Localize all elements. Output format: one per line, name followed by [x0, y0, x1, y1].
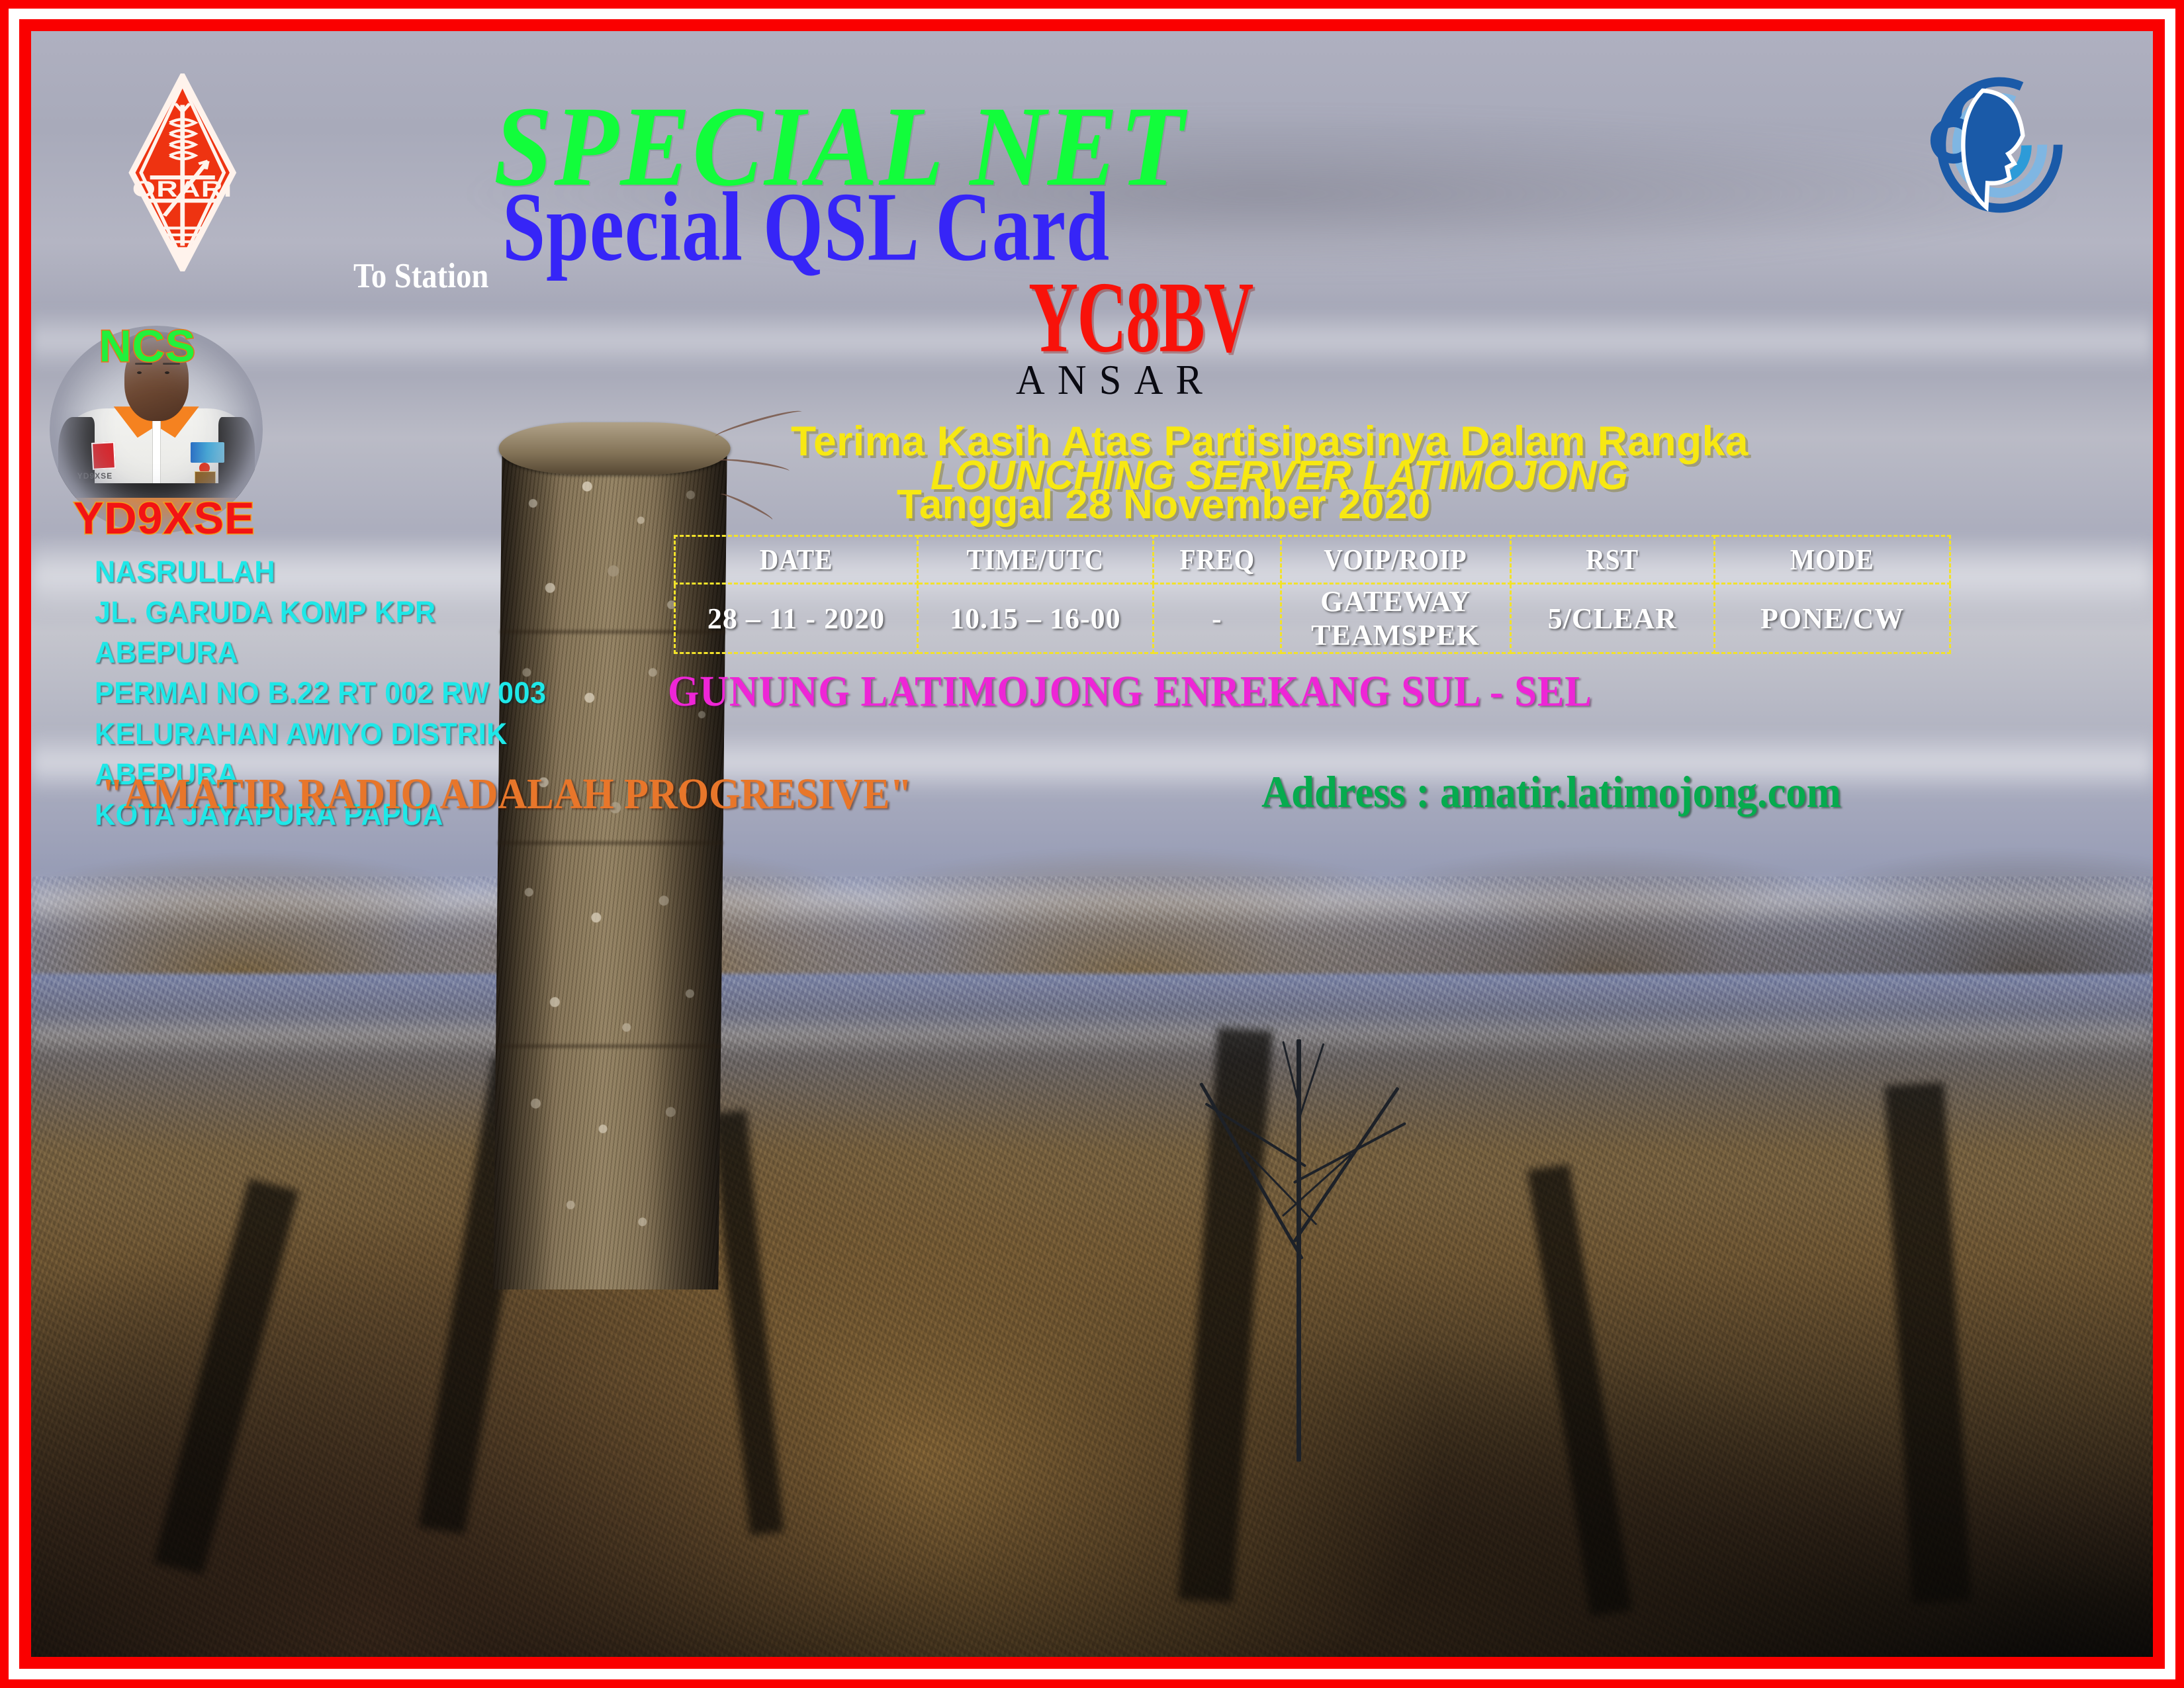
- cell-voip-line1: GATEWAY: [1282, 585, 1510, 618]
- cell-date: 28 – 11 - 2020: [675, 584, 917, 653]
- dead-tree-silhouette: [1208, 1039, 1400, 1462]
- address-line: ABEPURA: [95, 632, 546, 673]
- footer-slogan: "AMATIR RADIO ADALAH PROGRESIVE": [101, 773, 912, 816]
- orari-logo: ORARI: [128, 73, 237, 272]
- ncs-operator-photo: YD9XSE: [78, 363, 235, 496]
- table-row: 28 – 11 - 2020 10.15 – 16-00 - GATEWAY T…: [675, 584, 1950, 653]
- cell-freq: -: [1154, 584, 1281, 653]
- cell-rst: 5/CLEAR: [1510, 584, 1714, 653]
- col-header-rst: RST: [1520, 536, 1704, 584]
- to-station-label: To Station: [353, 259, 488, 294]
- footer-web-address: Address : amatir.latimojong.com: [1261, 769, 1841, 814]
- address-line: JL. GARUDA KOMP KPR: [95, 592, 546, 632]
- voip-operator-logo: [1928, 75, 2076, 214]
- col-header-freq: FREQ: [1160, 536, 1274, 584]
- station-callsign: YC8BV: [1028, 267, 1253, 368]
- operator-name: ANSAR: [1016, 359, 1215, 401]
- cell-time: 10.15 – 16-00: [917, 584, 1153, 653]
- cell-mode: PONE/CW: [1714, 584, 1950, 653]
- cell-voip: GATEWAY TEAMSPEK: [1281, 584, 1510, 653]
- col-header-mode: MODE: [1726, 536, 1938, 584]
- qsl-card-outer-border: ORARI: [0, 0, 2184, 1688]
- qsl-card-white-gap: ORARI: [9, 9, 2175, 1679]
- event-date: Tanggal 28 November 2020: [897, 485, 1431, 526]
- qsl-card-photo-area: ORARI: [31, 31, 2153, 1657]
- address-line: PERMAI NO B.22 RT 002 RW 003: [95, 673, 546, 713]
- qsl-card-inner-border: ORARI: [19, 19, 2165, 1669]
- address-line: NASRULLAH: [95, 551, 546, 592]
- ncs-callsign: YD9XSE: [73, 496, 255, 541]
- cell-voip-line2: TEAMSPEK: [1282, 618, 1510, 652]
- qso-log-table: DATE TIME/UTC FREQ VOIP/ROIP RST MODE 28…: [674, 535, 1951, 654]
- col-header-date: DATE: [687, 536, 905, 584]
- svg-text:ORARI: ORARI: [132, 177, 233, 202]
- location-label: GUNUNG LATIMOJONG ENREKANG SUL - SEL: [668, 670, 1592, 714]
- rock-texture: [31, 876, 2153, 1657]
- col-header-voip: VOIP/ROIP: [1293, 536, 1499, 584]
- col-header-time: TIME/UTC: [929, 536, 1142, 584]
- address-line: KELURAHAN AWIYO DISTRIK: [95, 714, 546, 754]
- table-header-row: DATE TIME/UTC FREQ VOIP/ROIP RST MODE: [675, 536, 1950, 584]
- ncs-label: NCS: [99, 324, 197, 369]
- page-subtitle: Special QSL Card: [502, 177, 1110, 276]
